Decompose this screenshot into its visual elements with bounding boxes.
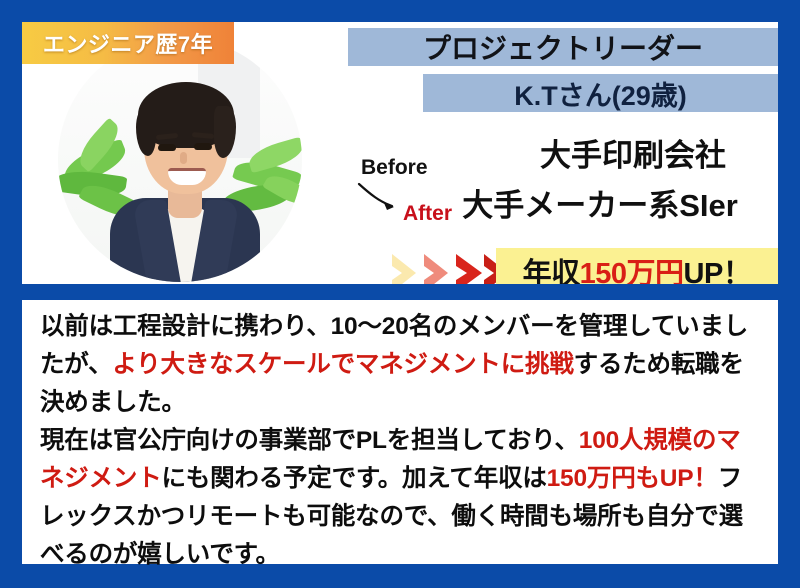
- person-eye-right: [194, 143, 212, 150]
- role-label: プロジェクトリーダー: [423, 27, 703, 67]
- role-band: プロジェクトリーダー: [348, 28, 778, 66]
- testimonial-card: エンジニア歴7年: [0, 0, 800, 588]
- person-eye-left: [158, 144, 176, 151]
- salary-highlight: 年収150万円UP！: [496, 248, 778, 284]
- testimonial-paragraph: 以前は工程設計に携わり、10〜20名のメンバーを管理していましたが、より大きなス…: [40, 308, 762, 422]
- salary-text: 年収150万円UP！: [523, 250, 752, 284]
- profile-panel: エンジニア歴7年: [22, 22, 778, 284]
- text-run-normal: にも関わる予定です。加えて年収は: [162, 465, 547, 492]
- before-label: Before: [361, 156, 428, 180]
- testimonial-panel: 以前は工程設計に携わり、10〜20名のメンバーを管理していましたが、より大きなス…: [22, 300, 778, 564]
- text-run-normal: 現在は官公庁向けの事業部でPLを担当しており、: [40, 427, 579, 454]
- testimonial-text: 以前は工程設計に携わり、10〜20名のメンバーを管理していましたが、より大きなス…: [40, 308, 762, 574]
- testimonial-paragraph: 現在は官公庁向けの事業部でPLを担当しており、100人規模のマネジメントにも関わ…: [40, 422, 762, 574]
- person-mouth: [168, 168, 206, 185]
- experience-badge: エンジニア歴7年: [22, 22, 234, 64]
- profile-photo: [58, 38, 302, 282]
- text-run-red: より大きなスケールでマネジメントに挑戦: [112, 351, 573, 378]
- salary-amount: 150万円: [580, 258, 684, 284]
- person-nose: [180, 152, 187, 164]
- salary-suffix: UP！: [684, 258, 752, 284]
- company-after: 大手メーカー系SIer: [422, 180, 778, 225]
- name-band: K.Tさん(29歳): [423, 74, 778, 112]
- company-before: 大手印刷会社: [488, 130, 778, 175]
- name-label: K.Tさん(29歳): [514, 74, 687, 113]
- experience-badge-label: エンジニア歴7年: [43, 27, 213, 59]
- salary-prefix: 年収: [523, 258, 580, 284]
- curved-down-right-arrow-icon: [356, 180, 402, 214]
- text-run-red: 150万円もUP！: [547, 465, 718, 492]
- triple-chevron-right-icon: [390, 250, 510, 284]
